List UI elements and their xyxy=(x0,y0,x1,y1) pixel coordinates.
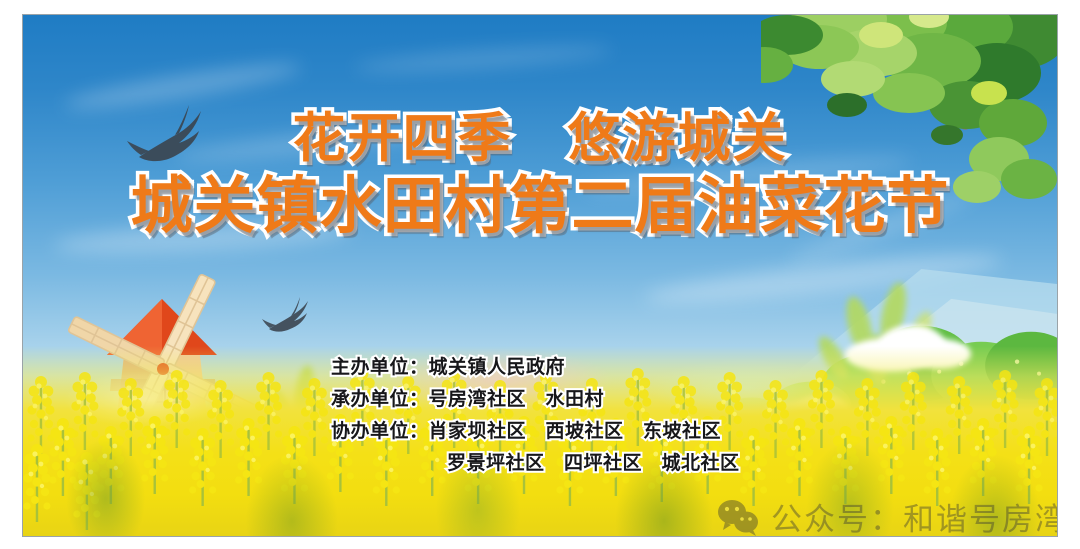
watermark-text: 公众号：和谐号房湾 xyxy=(771,494,1058,537)
banner-frame: 花开四季 悠游城关 城关镇水田村第二届油菜花节 主办单位：城关镇人民政府 承办单… xyxy=(22,14,1058,537)
tree-canopy xyxy=(761,14,1058,229)
swallow-bird-icon xyxy=(125,97,221,171)
wechat-icon xyxy=(717,498,759,536)
swallow-bird-icon xyxy=(261,293,319,337)
poster-root: 花开四季 悠游城关 城关镇水田村第二届油菜花节 主办单位：城关镇人民政府 承办单… xyxy=(0,0,1080,549)
watermark: 公众号：和谐号房湾 xyxy=(717,494,1058,537)
